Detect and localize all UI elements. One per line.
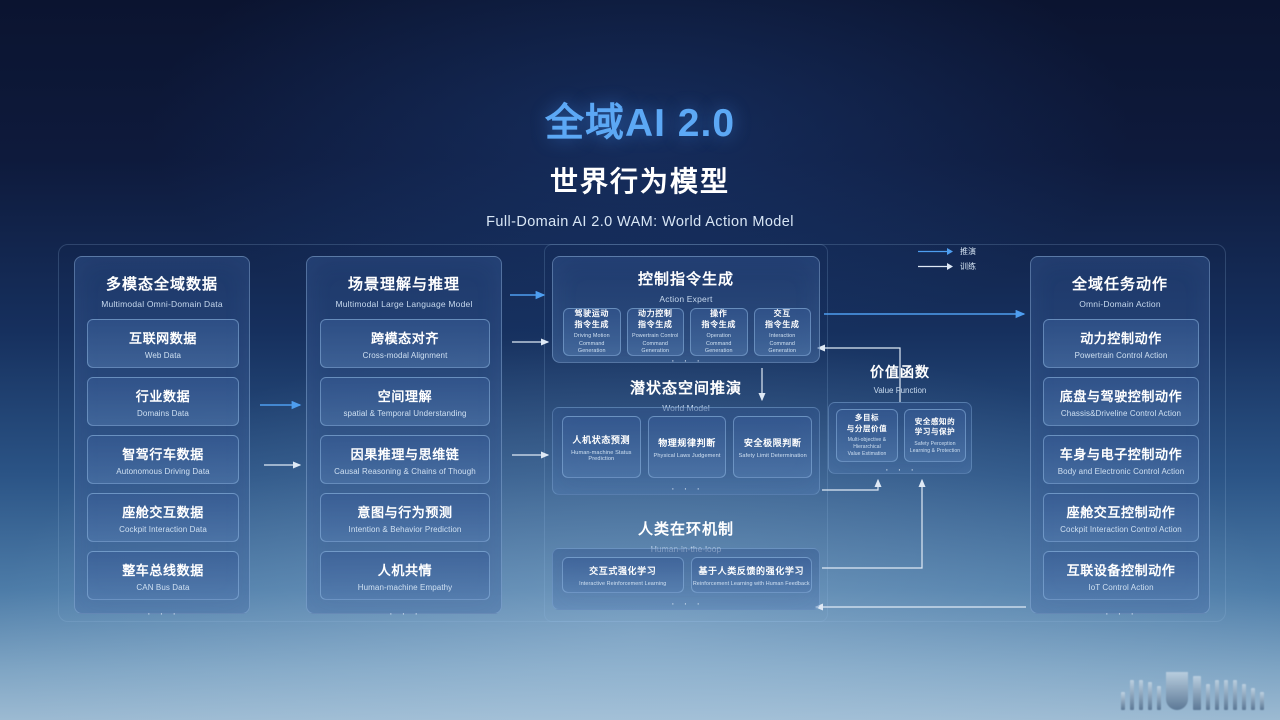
- card-label-en: Reinforcement Learning with Human Feedba…: [693, 581, 810, 587]
- card-label-cn: 跨模态对齐: [371, 328, 439, 347]
- panel-value-function[interactable]: 多目标与分层价值 Multi-objective & HierarchicalV…: [828, 402, 972, 474]
- card-label-cn: 车身与电子控制动作: [1060, 444, 1182, 463]
- list-item[interactable]: 意图与行为预测 Intention & Behavior Prediction: [320, 493, 490, 542]
- panel-title-en: Omni-Domain Action: [1031, 299, 1209, 309]
- mllm-card-list: 跨模态对齐 Cross-modal Alignment 空间理解 spatial…: [320, 319, 490, 620]
- list-item[interactable]: 驾驶运动指令生成 Driving MotionCommand Generatio…: [563, 308, 621, 356]
- card-label-cn: 操作指令生成: [702, 308, 736, 330]
- card-label-en: Safety Limit Determination: [739, 453, 807, 459]
- card-label-cn: 座舱交互数据: [122, 502, 204, 521]
- arrow-right-icon: [918, 262, 954, 271]
- list-item[interactable]: 操作指令生成 OperationCommand Generation: [690, 308, 748, 356]
- card-label-en: Safety PerceptionLearning & Protection: [910, 441, 960, 455]
- list-item[interactable]: 底盘与驾驶控制动作 Chassis&Driveline Control Acti…: [1043, 377, 1199, 426]
- list-item[interactable]: 互联网数据 Web Data: [87, 319, 239, 368]
- panel-multimodal-data[interactable]: 多模态全域数据 Multimodal Omni-Domain Data 互联网数…: [74, 256, 250, 614]
- card-label-cn: 底盘与驾驶控制动作: [1060, 386, 1182, 405]
- card-label-cn: 多目标与分层价值: [847, 413, 888, 434]
- panel-title-multimodal-data: 多模态全域数据 Multimodal Omni-Domain Data: [75, 273, 249, 309]
- section-title-cn: 人类在环机制: [552, 518, 820, 539]
- card-label-cn: 动力控制动作: [1080, 328, 1162, 347]
- card-label-cn: 物理规律判断: [658, 436, 716, 449]
- card-label-en: Intention & Behavior Prediction: [349, 525, 462, 534]
- list-item[interactable]: 人机共情 Human-machine Empathy: [320, 551, 490, 600]
- card-label-en: Cockpit Interaction Data: [119, 525, 207, 534]
- panel-title-action-expert: 控制指令生成 Action Expert: [553, 268, 819, 304]
- card-label-cn: 互联设备控制动作: [1067, 560, 1176, 579]
- section-title-en: Value Function: [828, 386, 972, 395]
- more-indicator: · · ·: [87, 609, 239, 620]
- card-label-cn: 因果推理与思维链: [351, 444, 460, 463]
- more-indicator: · · ·: [1043, 609, 1199, 620]
- watermark-logo: [1121, 672, 1264, 710]
- panel-title-cn: 控制指令生成: [553, 268, 819, 289]
- card-label-en: Powertrain ControlCommand Generation: [630, 333, 682, 356]
- arrow-right-icon: [918, 247, 954, 256]
- panel-omni-domain-action[interactable]: 全域任务动作 Omni-Domain Action 动力控制动作 Powertr…: [1030, 256, 1210, 614]
- more-indicator: · · ·: [553, 599, 821, 610]
- architecture-diagram: 推演 训练 多模态全域数据 Multimodal Omni-Domain Dat…: [0, 240, 1280, 630]
- card-label-cn: 智驾行车数据: [122, 444, 204, 463]
- panel-title-cn: 场景理解与推理: [307, 273, 501, 294]
- list-item[interactable]: 座舱交互数据 Cockpit Interaction Data: [87, 493, 239, 542]
- data-card-list: 互联网数据 Web Data 行业数据 Domains Data 智驾行车数据 …: [87, 319, 239, 620]
- card-label-en: Chassis&Driveline Control Action: [1061, 409, 1181, 418]
- section-title-cn: 潜状态空间推演: [552, 377, 820, 398]
- title-english: Full-Domain AI 2.0 WAM: World Action Mod…: [0, 214, 1280, 230]
- card-label-cn: 动力控制指令生成: [638, 308, 672, 330]
- world-model-card-row: 人机状态预测 Human-machine Status Prediction 物…: [562, 416, 812, 478]
- list-item[interactable]: 交互指令生成 InteractionCommand Generation: [754, 308, 812, 356]
- card-label-cn: 驾驶运动指令生成: [575, 308, 609, 330]
- panel-title-scene-understanding: 场景理解与推理 Multimodal Large Language Model: [307, 273, 501, 309]
- panel-human-in-the-loop[interactable]: 交互式强化学习 Interactive Reinforcement Learni…: [552, 548, 820, 610]
- card-label-cn: 交互式强化学习: [589, 564, 656, 577]
- card-label-cn: 人机状态预测: [573, 433, 631, 446]
- card-label-cn: 座舱交互控制动作: [1067, 502, 1176, 521]
- legend-item-training: 训练: [918, 259, 998, 274]
- list-item[interactable]: 整车总线数据 CAN Bus Data: [87, 551, 239, 600]
- legend-label-training: 训练: [960, 261, 976, 272]
- panel-title-en: Multimodal Omni-Domain Data: [75, 299, 249, 309]
- list-item[interactable]: 物理规律判断 Physical Laws Judgement: [648, 416, 727, 478]
- card-label-en: Body and Electronic Control Action: [1058, 467, 1185, 476]
- value-function-card-row: 多目标与分层价值 Multi-objective & HierarchicalV…: [836, 409, 966, 462]
- card-label-cn: 人机共情: [378, 560, 432, 579]
- list-item[interactable]: 动力控制动作 Powertrain Control Action: [1043, 319, 1199, 368]
- section-title-cn: 价值函数: [828, 362, 972, 382]
- list-item[interactable]: 车身与电子控制动作 Body and Electronic Control Ac…: [1043, 435, 1199, 484]
- section-title-value-function: 价值函数 Value Function: [828, 362, 972, 395]
- card-label-en: Multi-objective & HierarchicalValue Esti…: [837, 437, 897, 458]
- more-indicator: · · ·: [553, 484, 821, 495]
- list-item[interactable]: 座舱交互控制动作 Cockpit Interaction Control Act…: [1043, 493, 1199, 542]
- card-label-en: Autonomous Driving Data: [116, 467, 209, 476]
- legend-item-inference: 推演: [918, 244, 998, 259]
- card-label-en: CAN Bus Data: [136, 583, 189, 592]
- list-item[interactable]: 安全极限判断 Safety Limit Determination: [733, 416, 812, 478]
- list-item[interactable]: 人机状态预测 Human-machine Status Prediction: [562, 416, 641, 478]
- list-item[interactable]: 多目标与分层价值 Multi-objective & HierarchicalV…: [836, 409, 898, 462]
- card-label-en: Causal Reasoning & Chains of Though: [334, 467, 476, 476]
- legend-label-inference: 推演: [960, 246, 976, 257]
- card-label-en: Driving MotionCommand Generation: [566, 333, 618, 356]
- hitl-card-row: 交互式强化学习 Interactive Reinforcement Learni…: [562, 557, 812, 593]
- list-item[interactable]: 智驾行车数据 Autonomous Driving Data: [87, 435, 239, 484]
- panel-title-cn: 多模态全域数据: [75, 273, 249, 294]
- card-label-en: Cross-modal Alignment: [363, 351, 448, 360]
- title-subtitle: 世界行为模型: [0, 160, 1280, 200]
- more-indicator: · · ·: [553, 356, 821, 367]
- panel-scene-understanding[interactable]: 场景理解与推理 Multimodal Large Language Model …: [306, 256, 502, 614]
- card-label-cn: 安全感知的学习与保护: [915, 417, 956, 438]
- card-label-en: IoT Control Action: [1088, 583, 1153, 592]
- card-label-en: OperationCommand Generation: [693, 333, 745, 356]
- card-label-en: Interactive Reinforcement Learning: [579, 581, 666, 587]
- panel-title-cn: 全域任务动作: [1031, 273, 1209, 294]
- list-item[interactable]: 交互式强化学习 Interactive Reinforcement Learni…: [562, 557, 684, 593]
- card-label-cn: 意图与行为预测: [357, 502, 452, 521]
- panel-world-model[interactable]: 人机状态预测 Human-machine Status Prediction 物…: [552, 407, 820, 495]
- more-indicator: · · ·: [829, 465, 973, 476]
- card-label-cn: 行业数据: [136, 386, 190, 405]
- panel-title-omni-domain-action: 全域任务动作 Omni-Domain Action: [1031, 273, 1209, 309]
- list-item[interactable]: 因果推理与思维链 Causal Reasoning & Chains of Th…: [320, 435, 490, 484]
- card-label-en: Physical Laws Judgement: [654, 453, 721, 459]
- list-item[interactable]: 互联设备控制动作 IoT Control Action: [1043, 551, 1199, 600]
- list-item[interactable]: 动力控制指令生成 Powertrain ControlCommand Gener…: [627, 308, 685, 356]
- card-label-en: Powertrain Control Action: [1075, 351, 1168, 360]
- panel-title-en: Multimodal Large Language Model: [307, 299, 501, 309]
- page-title: 全域AI 2.0 世界行为模型 Full-Domain AI 2.0 WAM: …: [0, 92, 1280, 230]
- card-label-en: Human-machine Empathy: [358, 583, 453, 592]
- action-expert-card-row: 驾驶运动指令生成 Driving MotionCommand Generatio…: [563, 308, 811, 356]
- card-label-cn: 安全极限判断: [744, 436, 802, 449]
- card-label-en: spatial & Temporal Understanding: [343, 409, 466, 418]
- list-item[interactable]: 行业数据 Domains Data: [87, 377, 239, 426]
- card-label-en: Cockpit Interaction Control Action: [1060, 525, 1182, 534]
- card-label-cn: 空间理解: [378, 386, 432, 405]
- list-item[interactable]: 空间理解 spatial & Temporal Understanding: [320, 377, 490, 426]
- title-main: 全域AI 2.0: [0, 92, 1280, 148]
- card-label-en: Domains Data: [137, 409, 189, 418]
- list-item[interactable]: 跨模态对齐 Cross-modal Alignment: [320, 319, 490, 368]
- action-card-list: 动力控制动作 Powertrain Control Action 底盘与驾驶控制…: [1043, 319, 1199, 620]
- card-label-cn: 整车总线数据: [122, 560, 204, 579]
- card-label-en: Web Data: [145, 351, 181, 360]
- card-label-cn: 基于人类反馈的强化学习: [698, 564, 804, 577]
- card-label-en: InteractionCommand Generation: [757, 333, 809, 356]
- panel-action-expert[interactable]: 控制指令生成 Action Expert 驾驶运动指令生成 Driving Mo…: [552, 256, 820, 363]
- panel-title-en: Action Expert: [553, 294, 819, 304]
- card-label-cn: 互联网数据: [129, 328, 197, 347]
- legend: 推演 训练: [918, 244, 998, 274]
- list-item[interactable]: 基于人类反馈的强化学习 Reinforcement Learning with …: [691, 557, 813, 593]
- list-item[interactable]: 安全感知的学习与保护 Safety PerceptionLearning & P…: [904, 409, 966, 462]
- more-indicator: · · ·: [320, 609, 490, 620]
- card-label-cn: 交互指令生成: [765, 308, 799, 330]
- card-label-en: Human-machine Status Prediction: [563, 450, 640, 462]
